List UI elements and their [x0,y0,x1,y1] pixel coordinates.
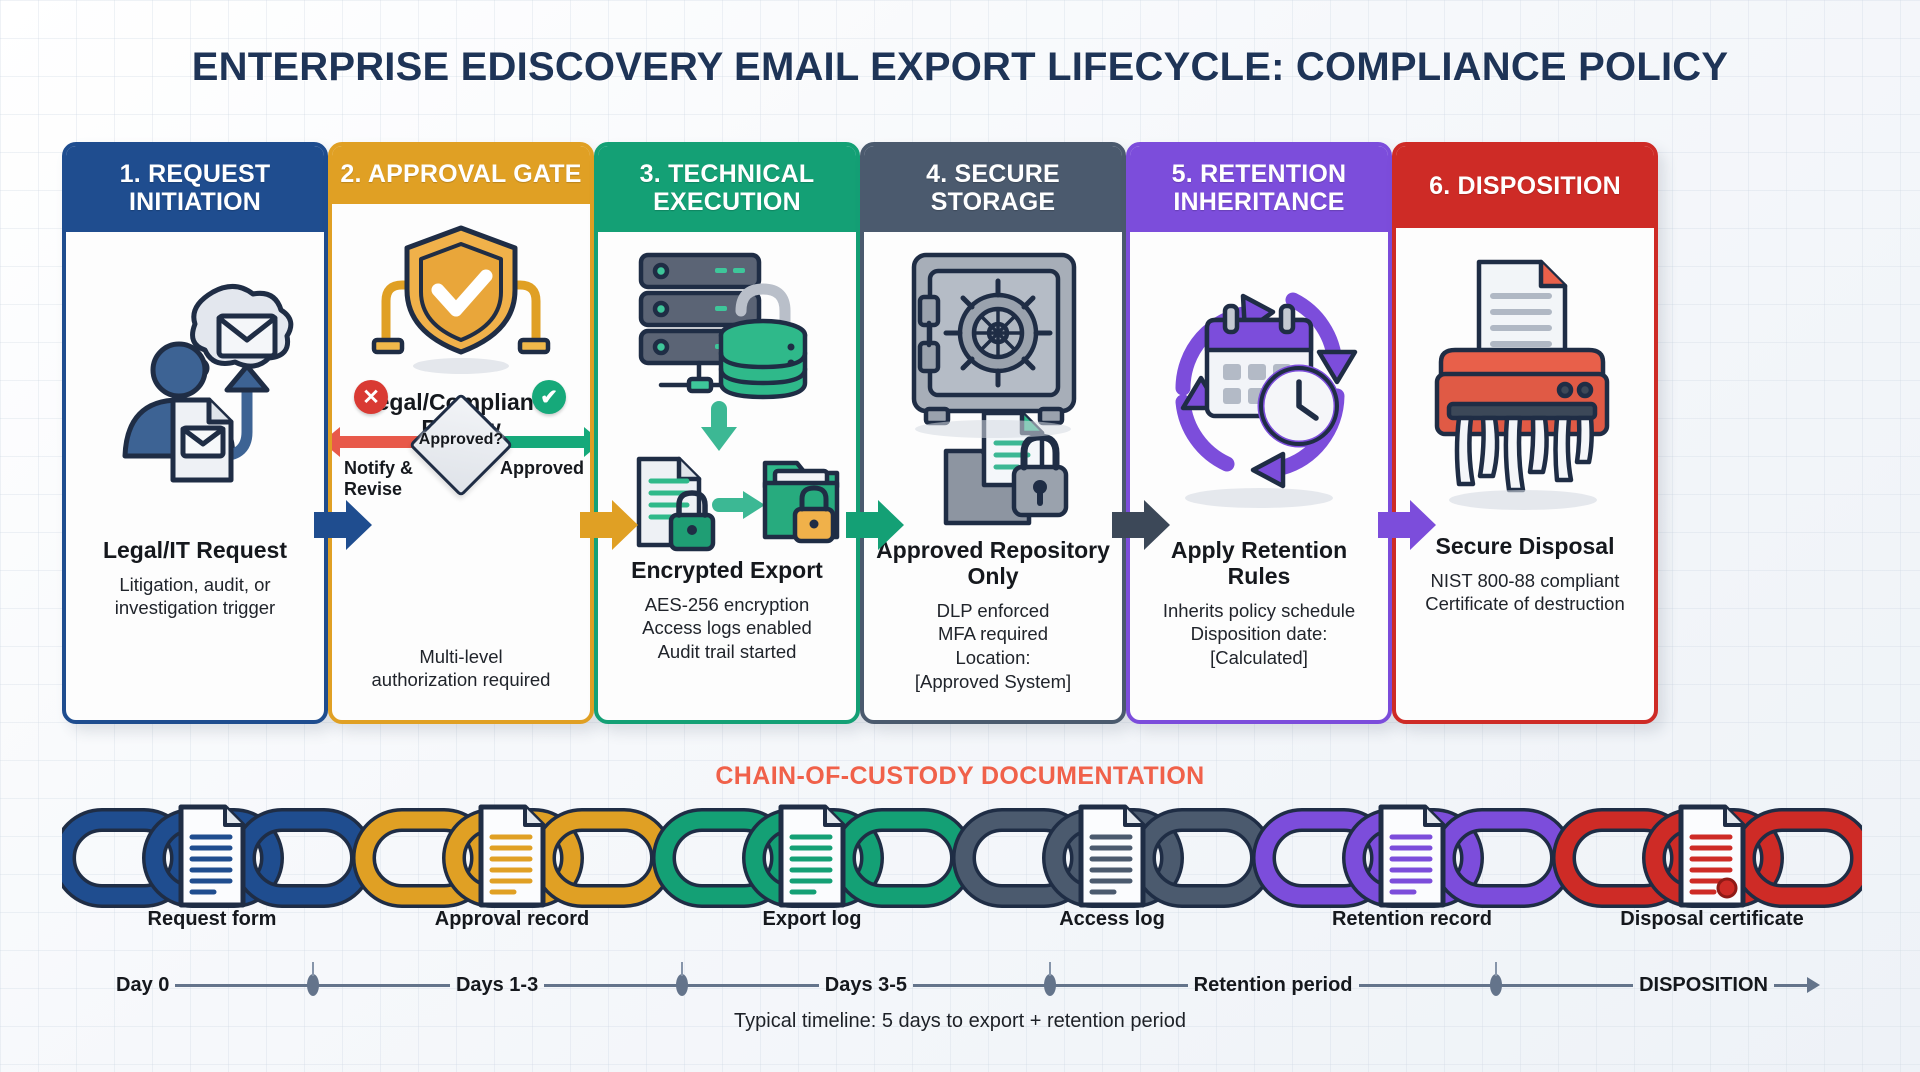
chain-of-custody-graphic [62,800,1862,918]
chain-doc-label-5: Retention record [1262,908,1562,931]
safe-vault-locked-folder-icon [874,238,1112,538]
step-body-1: Legal/IT Request Litigation, audit, or i… [66,232,324,720]
chain-doc-label-6: Disposal certificate [1562,908,1862,931]
step-body-4: Approved Repository Only DLP enforced MF… [864,232,1122,720]
step-card-technical-execution[interactable]: 3. TECHNICAL EXECUTION [594,142,860,724]
timeline-segment-4 [1359,974,1634,996]
timeline-node-3 [1044,974,1056,996]
step-desc-4: DLP enforced MFA required Location: [App… [915,599,1071,694]
step-header-5: 5. RETENTION INHERITANCE [1130,146,1388,232]
step-slot-1: 1. REQUEST INITIATION [62,142,328,742]
chain-doc-label-2: Approval record [362,908,662,931]
chain-document-1 [181,807,243,905]
step-desc-5: Inherits policy schedule Disposition dat… [1163,599,1355,670]
step-title-1: Legal/IT Request [103,538,287,564]
approve-badge-icon: ✔ [532,380,566,414]
step-desc-2: Multi-level authorization required [332,645,590,692]
timeline-segment-1 [175,974,450,996]
step-slot-6: 6. DISPOSITION [1392,142,1658,742]
step-desc-1: Litigation, audit, or investigation trig… [115,573,275,620]
connector-arrow-2-to-3 [578,494,640,556]
step-header-6: 6. DISPOSITION [1396,146,1654,228]
timeline-node-2 [676,974,688,996]
chain-doc-label-4: Access log [962,908,1262,931]
step-header-1: 1. REQUEST INITIATION [66,146,324,232]
approval-decision-node: Approved? ✕ ✔ Notify & Revise Approved [332,374,590,504]
connector-arrow-5-to-6 [1376,494,1438,556]
timeline-label-3: Days 3-5 [819,974,913,997]
timeline-node-4 [1490,974,1502,996]
chain-document-3 [781,807,843,905]
connector-arrow-4-to-5 [1110,494,1172,556]
lifecycle-steps-row: 1. REQUEST INITIATION [62,142,1862,742]
reject-badge-icon: ✕ [354,380,388,414]
timeline: Day 0 Days 1-3 Days 3-5 Retention period… [110,965,1820,1005]
decision-question: Approved? [332,431,590,449]
timeline-label-4: Retention period [1188,974,1359,997]
step-desc-3: AES-256 encryption Access logs enabled A… [642,593,812,664]
step-body-5: Apply Retention Rules Inherits policy sc… [1130,232,1388,720]
step-slot-5: 5. RETENTION INHERITANCE [1126,142,1392,742]
step-header-2: 2. APPROVAL GATE [332,146,590,204]
step-body-6: Secure Disposal NIST 800-88 compliant Ce… [1396,228,1654,720]
timeline-footnote: Typical timeline: 5 days to export + ret… [0,1010,1920,1033]
approve-path-label: Approved [500,458,584,479]
step-body-3: Encrypted Export AES-256 encryption Acce… [598,232,856,720]
step-card-disposition[interactable]: 6. DISPOSITION [1392,142,1658,724]
chain-doc-label-3: Export log [662,908,962,931]
step-card-secure-storage[interactable]: 4. SECURE STORAGE [860,142,1126,724]
chain-document-6 [1681,807,1743,905]
chain-document-4 [1081,807,1143,905]
calendar-clock-recycle-arrows-icon [1140,238,1378,538]
timeline-node-1 [307,974,319,996]
chain-of-custody-labels: Request form Approval record Export log … [62,908,1862,931]
timeline-segment-3 [913,974,1188,996]
step-slot-3: 3. TECHNICAL EXECUTION [594,142,860,742]
timeline-label-5: DISPOSITION [1633,974,1774,997]
chain-of-custody-title: CHAIN-OF-CUSTODY DOCUMENTATION [0,762,1920,791]
step-header-3: 3. TECHNICAL EXECUTION [598,146,856,232]
step-card-request-initiation[interactable]: 1. REQUEST INITIATION [62,142,328,724]
connector-arrow-3-to-4 [844,494,906,556]
server-database-lock-encrypted-export-icon [608,238,846,558]
step-header-4: 4. SECURE STORAGE [864,146,1122,232]
timeline-label-2: Days 1-3 [450,974,544,997]
step-desc-6: NIST 800-88 compliant Certificate of des… [1425,569,1624,616]
chain-document-2 [481,807,543,905]
step-title-5: Apply Retention Rules [1140,538,1378,590]
person-with-email-request-icon [76,238,314,538]
step-title-4: Approved Repository Only [874,538,1112,590]
step-slot-2: 2. APPROVAL GATE [328,142,594,742]
step-body-2: Legal/Compliance Review Approved? ✕ ✔ No… [332,204,590,720]
step-title-3: Encrypted Export [631,558,823,584]
chain-doc-label-1: Request form [62,908,362,931]
arrow-right-icon [1774,974,1820,996]
page-title: ENTERPRISE EDISCOVERY EMAIL EXPORT LIFEC… [0,45,1920,90]
step-title-6: Secure Disposal [1436,534,1615,560]
paper-shredder-icon [1406,234,1644,534]
chain-document-5 [1381,807,1443,905]
step-slot-4: 4. SECURE STORAGE [860,142,1126,742]
timeline-label-1: Day 0 [110,974,175,997]
shield-check-gate-icon [342,210,580,390]
connector-arrow-1-to-2 [312,494,374,556]
step-card-retention-inheritance[interactable]: 5. RETENTION INHERITANCE [1126,142,1392,724]
step-card-approval-gate[interactable]: 2. APPROVAL GATE [328,142,594,724]
timeline-segment-2 [544,974,819,996]
